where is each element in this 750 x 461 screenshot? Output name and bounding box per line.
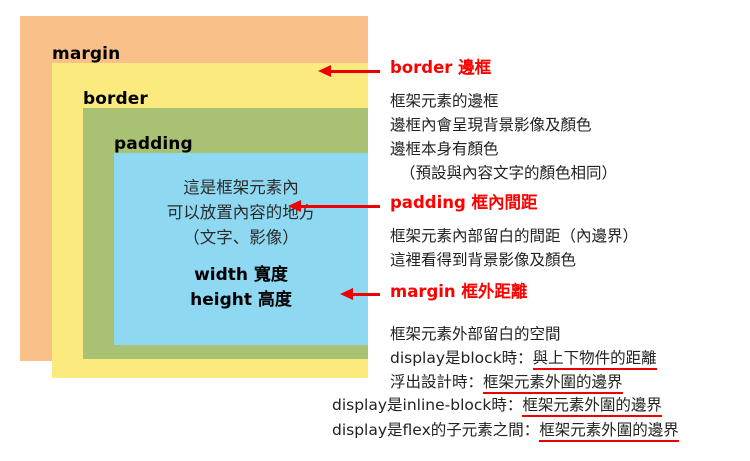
- annotation-line-plain: 浮出設計時：: [390, 373, 483, 391]
- arrow-shaft: [328, 70, 380, 73]
- margin-arrow-left-icon: [340, 288, 380, 300]
- annotation-line-plain: display是block時：: [390, 349, 533, 367]
- annotation-body: 框架元素外部留白的空間 display是block時：與上下物件的距離 浮出設計…: [390, 322, 657, 395]
- footnote-underlined: 框架元素外圍的邊界: [522, 396, 662, 417]
- annotation-line: （預設與內容文字的顏色相同）: [390, 161, 617, 185]
- arrow-shaft: [298, 205, 380, 208]
- footnote-plain: display是inline-block時：: [332, 396, 522, 414]
- margin-layer: margin border padding 這是框架元素內 可以放置內容的地方 …: [20, 16, 368, 361]
- border-layer: border padding 這是框架元素內 可以放置內容的地方 （文字、影像）…: [52, 63, 368, 378]
- annotation-title: border 邊框: [390, 58, 617, 78]
- annotation-line: 邊框內會呈現背景影像及顏色: [390, 113, 617, 137]
- content-dimension-block: width 寬度 height 高度: [114, 263, 368, 312]
- annotation-body: 框架元素內部留白的間距（內邊界） 這裡看得到背景影像及顏色: [390, 224, 638, 272]
- annotation-line: 邊框本身有顏色: [390, 137, 617, 161]
- box-model-diagram: margin border padding 這是框架元素內 可以放置內容的地方 …: [20, 16, 368, 361]
- annotation-margin: margin 框外距離 框架元素外部留白的空間 display是block時：與…: [390, 282, 657, 394]
- annotation-line-underlined: 框架元素外圍的邊界: [483, 373, 623, 394]
- annotation-line-plain: 框架元素外部留白的空間: [390, 325, 561, 343]
- padding-layer: padding 這是框架元素內 可以放置內容的地方 （文字、影像） width …: [83, 108, 368, 359]
- annotation-border: border 邊框 框架元素的邊框 邊框內會呈現背景影像及顏色 邊框本身有顏色 …: [390, 58, 617, 185]
- arrow-shaft: [350, 293, 380, 296]
- footnote-line: display是flex的子元素之間：框架元素外圍的邊界: [332, 418, 679, 443]
- content-height-label: height 高度: [114, 288, 368, 313]
- annotation-line: 框架元素外部留白的空間: [390, 322, 657, 346]
- border-label: border: [83, 91, 368, 108]
- annotation-line: 框架元素內部留白的間距（內邊界）: [390, 224, 638, 248]
- annotation-body: 框架元素的邊框 邊框內會呈現背景影像及顏色 邊框本身有顏色 （預設與內容文字的顏…: [390, 89, 617, 186]
- content-text-line: （文字、影像）: [114, 225, 368, 250]
- annotation-title: padding 框內間距: [390, 193, 638, 213]
- border-arrow-left-icon: [318, 65, 380, 77]
- annotation-line-underlined: 與上下物件的距離: [533, 349, 657, 370]
- padding-arrow-left-icon: [288, 200, 380, 212]
- annotation-line: display是block時：與上下物件的距離: [390, 346, 657, 370]
- margin-label: margin: [52, 46, 368, 63]
- content-width-label: width 寬度: [114, 263, 368, 288]
- content-text-line: 這是框架元素內: [114, 175, 368, 200]
- padding-label: padding: [114, 136, 368, 153]
- footnotes: display是inline-block時：框架元素外圍的邊界 display是…: [332, 393, 679, 443]
- annotation-line: 浮出設計時：框架元素外圍的邊界: [390, 370, 657, 394]
- annotation-title: margin 框外距離: [390, 282, 657, 302]
- content-layer: 這是框架元素內 可以放置內容的地方 （文字、影像） width 寬度 heigh…: [114, 153, 368, 345]
- annotation-padding: padding 框內間距 框架元素內部留白的間距（內邊界） 這裡看得到背景影像及…: [390, 193, 638, 272]
- annotation-line: 這裡看得到背景影像及顏色: [390, 248, 638, 272]
- footnote-plain: display是flex的子元素之間：: [332, 421, 539, 439]
- footnote-underlined: 框架元素外圍的邊界: [539, 421, 679, 442]
- annotation-line: 框架元素的邊框: [390, 89, 617, 113]
- footnote-line: display是inline-block時：框架元素外圍的邊界: [332, 393, 679, 418]
